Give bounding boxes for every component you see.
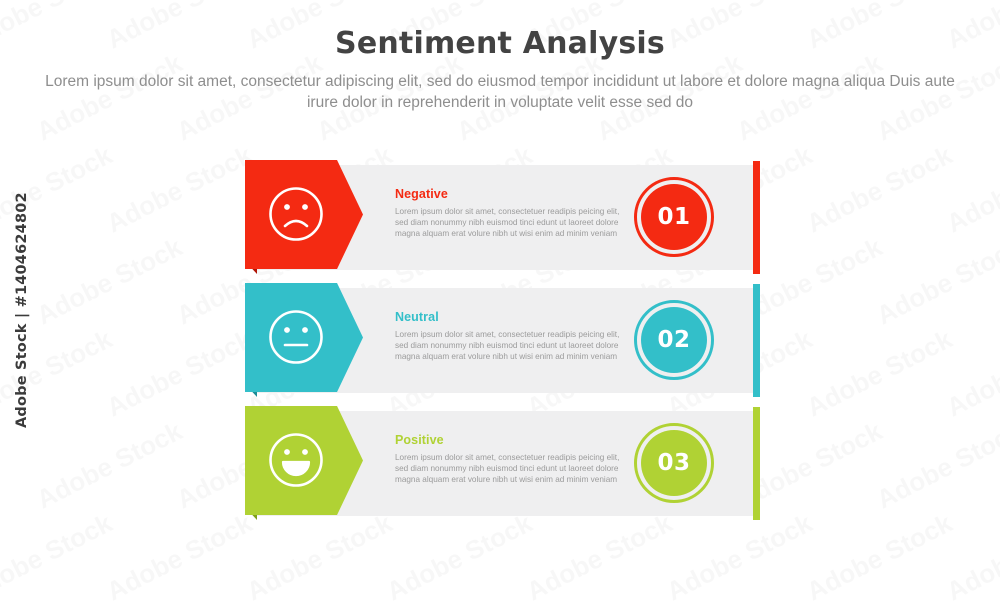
row-title: Negative (395, 187, 625, 201)
happy-face-icon (267, 431, 325, 489)
row-accent-bar (753, 284, 760, 397)
arrow-tag[interactable] (245, 406, 363, 515)
badge-number: 01 (657, 204, 690, 230)
row-description: Lorem ipsum dolor sit amet, consectetuer… (395, 324, 625, 363)
row-text-block: NeutralLorem ipsum dolor sit amet, conse… (395, 310, 625, 363)
sad-face-icon (267, 185, 325, 243)
row-title: Neutral (395, 310, 625, 324)
row-description: Lorem ipsum dolor sit amet, consectetuer… (395, 447, 625, 486)
badge-number: 03 (657, 450, 690, 476)
number-badge[interactable]: 02 (634, 300, 714, 380)
badge-number: 02 (657, 327, 690, 353)
sentiment-list: NegativeLorem ipsum dolor sit amet, cons… (0, 0, 1000, 563)
badge-inner-circle: 02 (641, 307, 707, 373)
row-accent-bar (753, 161, 760, 274)
badge-inner-circle: 01 (641, 184, 707, 250)
neutral-face-icon (267, 308, 325, 366)
sentiment-row-negative[interactable]: NegativeLorem ipsum dolor sit amet, cons… (253, 165, 760, 270)
row-text-block: NegativeLorem ipsum dolor sit amet, cons… (395, 187, 625, 240)
arrow-tag[interactable] (245, 160, 363, 269)
row-title: Positive (395, 433, 625, 447)
row-description: Lorem ipsum dolor sit amet, consectetuer… (395, 201, 625, 240)
number-badge[interactable]: 01 (634, 177, 714, 257)
sentiment-row-positive[interactable]: PositiveLorem ipsum dolor sit amet, cons… (253, 411, 760, 516)
row-text-block: PositiveLorem ipsum dolor sit amet, cons… (395, 433, 625, 486)
number-badge[interactable]: 03 (634, 423, 714, 503)
arrow-tag[interactable] (245, 283, 363, 392)
sentiment-row-neutral[interactable]: NeutralLorem ipsum dolor sit amet, conse… (253, 288, 760, 393)
row-accent-bar (753, 407, 760, 520)
badge-inner-circle: 03 (641, 430, 707, 496)
